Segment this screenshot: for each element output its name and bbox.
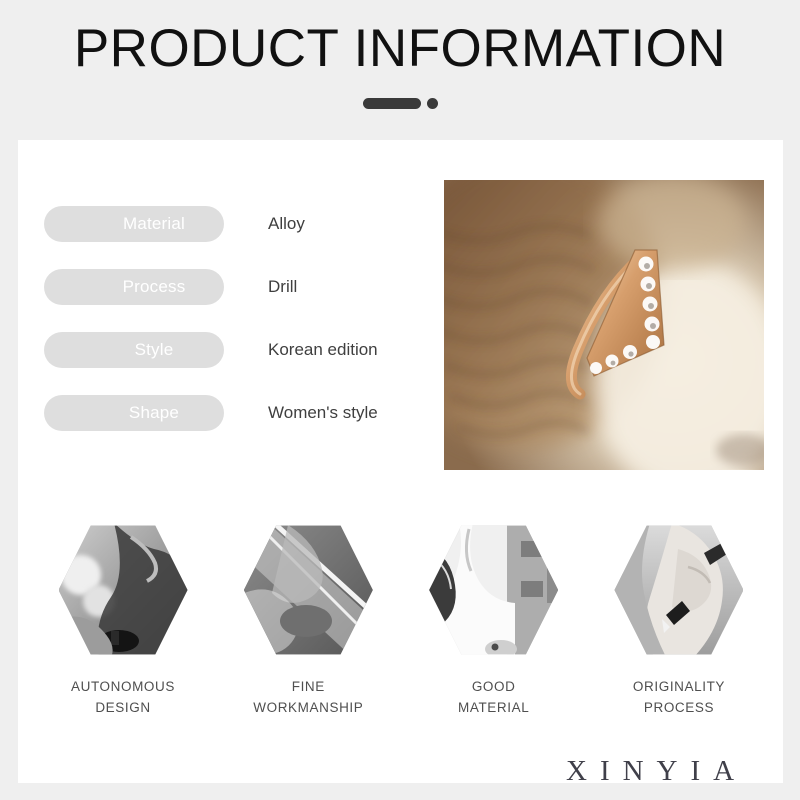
spec-label-pill: Style — [44, 332, 224, 368]
content-card: Material Alloy Process Drill Style Korea… — [18, 140, 783, 783]
spec-row: Process Drill — [44, 269, 444, 305]
title-divider — [0, 96, 800, 110]
specification-list: Material Alloy Process Drill Style Korea… — [44, 206, 444, 458]
feature-hex-image-autonomous-design — [59, 523, 188, 657]
spec-row: Material Alloy — [44, 206, 444, 242]
feature-item: FINEWORKMANSHIP — [221, 523, 395, 719]
feature-hex-image-fine-workmanship — [244, 523, 373, 657]
divider-dot-icon — [427, 98, 438, 109]
spec-label: Shape — [129, 403, 179, 423]
spec-row: Shape Women's style — [44, 395, 444, 431]
spec-label-pill: Shape — [44, 395, 224, 431]
product-photo — [444, 180, 764, 470]
spec-label: Process — [123, 277, 186, 297]
page-title: PRODUCT INFORMATION — [0, 20, 800, 78]
spec-value: Drill — [268, 277, 297, 297]
product-photo-image — [444, 180, 764, 470]
spec-label-pill: Process — [44, 269, 224, 305]
feature-list: AUTONOMOUSDESIGN — [36, 523, 766, 719]
feature-label: GOODMATERIAL — [458, 677, 529, 719]
feature-label: FINEWORKMANSHIP — [253, 677, 363, 719]
brand-watermark: XINYIA — [566, 755, 747, 788]
spec-value: Korean edition — [268, 340, 378, 360]
spec-label: Material — [123, 214, 185, 234]
feature-label: ORIGINALITYPROCESS — [633, 677, 725, 719]
page-header: PRODUCT INFORMATION — [0, 0, 800, 140]
feature-label: AUTONOMOUSDESIGN — [71, 677, 175, 719]
spec-value: Women's style — [268, 403, 378, 423]
spec-label-pill: Material — [44, 206, 224, 242]
spec-label: Style — [135, 340, 174, 360]
feature-hex-image-good-material — [429, 523, 558, 657]
spec-value: Alloy — [268, 214, 305, 234]
divider-bar-icon — [363, 98, 421, 109]
feature-item: AUTONOMOUSDESIGN — [36, 523, 210, 719]
feature-item: ORIGINALITYPROCESS — [592, 523, 766, 719]
feature-item: GOODMATERIAL — [407, 523, 581, 719]
spec-row: Style Korean edition — [44, 332, 444, 368]
feature-hex-image-originality-process — [614, 523, 743, 657]
